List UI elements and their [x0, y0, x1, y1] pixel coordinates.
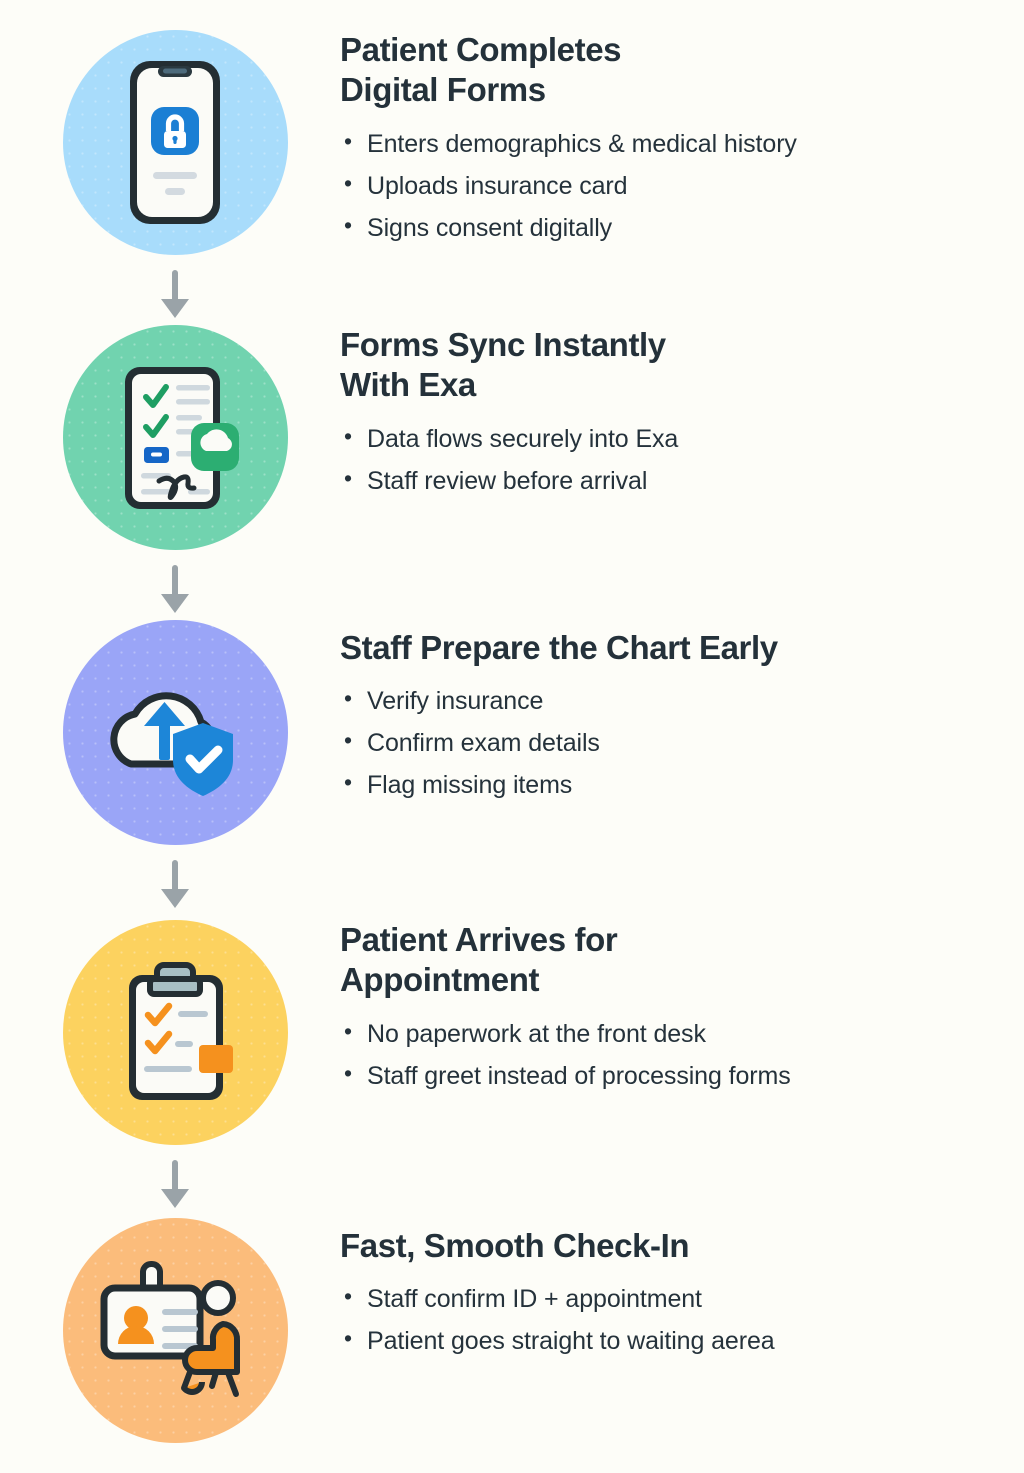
step-5-text-column: Fast, Smooth Check-In Staff confirm ID +…: [340, 1218, 1024, 1362]
step-4-title: Patient Arrives for Appointment: [340, 920, 994, 1001]
connector-4-to-5: [0, 1158, 340, 1210]
step-3-icon-column: [0, 620, 340, 845]
step-3-icon-badge: [63, 620, 288, 845]
list-item: No paperwork at the front desk: [340, 1013, 994, 1055]
step-2-icon-column: [0, 325, 340, 550]
connector-2-to-3: [0, 563, 340, 615]
process-step-5: Fast, Smooth Check-In Staff confirm ID +…: [0, 1218, 1024, 1443]
step-3-text-column: Staff Prepare the Chart Early Verify ins…: [340, 620, 1024, 806]
cloud-upload-shield-check-icon: [95, 658, 255, 808]
signed-form-cloud-sync-icon: [93, 355, 258, 520]
list-item: Staff greet instead of processing forms: [340, 1055, 994, 1097]
list-item: Flag missing items: [340, 764, 994, 806]
list-item: Patient goes straight to waiting aerea: [340, 1320, 994, 1362]
list-item: Confirm exam details: [340, 722, 994, 764]
list-item: Staff review before arrival: [340, 460, 994, 502]
list-item: Uploads insurance card: [340, 165, 994, 207]
step-4-bullet-list: No paperwork at the front desk Staff gre…: [340, 1013, 994, 1097]
step-4-icon-column: [0, 920, 340, 1145]
step-5-icon-column: [0, 1218, 340, 1443]
connector-1-to-2: [0, 268, 340, 320]
step-4-icon-badge: [63, 920, 288, 1145]
arrow-down-icon: [158, 563, 192, 615]
arrow-down-icon: [158, 858, 192, 910]
step-1-icon-badge: [63, 30, 288, 255]
process-flow-infographic: Patient Completes Digital Forms Enters d…: [0, 0, 1024, 1473]
step-2-text-column: Forms Sync Instantly With Exa Data flows…: [340, 325, 1024, 502]
step-1-title: Patient Completes Digital Forms: [340, 30, 994, 111]
step-2-bullet-list: Data flows securely into Exa Staff revie…: [340, 418, 994, 502]
process-step-2: Forms Sync Instantly With Exa Data flows…: [0, 325, 1024, 550]
step-4-text-column: Patient Arrives for Appointment No paper…: [340, 920, 1024, 1097]
step-3-bullet-list: Verify insurance Confirm exam details Fl…: [340, 680, 994, 806]
process-step-1: Patient Completes Digital Forms Enters d…: [0, 30, 1024, 255]
step-3-title: Staff Prepare the Chart Early: [340, 628, 994, 668]
list-item: Verify insurance: [340, 680, 994, 722]
process-step-3: Staff Prepare the Chart Early Verify ins…: [0, 620, 1024, 845]
step-2-icon-badge: [63, 325, 288, 550]
id-badge-seated-patient-icon: [90, 1256, 260, 1406]
step-5-title: Fast, Smooth Check-In: [340, 1226, 994, 1266]
step-5-bullet-list: Staff confirm ID + appointment Patient g…: [340, 1278, 994, 1362]
arrow-down-icon: [158, 1158, 192, 1210]
step-1-bullet-list: Enters demographics & medical history Up…: [340, 123, 994, 249]
step-5-icon-badge: [63, 1218, 288, 1443]
list-item: Staff confirm ID + appointment: [340, 1278, 994, 1320]
step-1-text-column: Patient Completes Digital Forms Enters d…: [340, 30, 1024, 249]
arrow-down-icon: [158, 268, 192, 320]
smartphone-secure-form-icon: [100, 55, 250, 230]
step-1-icon-column: [0, 30, 340, 255]
list-item: Signs consent digitally: [340, 207, 994, 249]
step-2-title: Forms Sync Instantly With Exa: [340, 325, 994, 406]
list-item: Enters demographics & medical history: [340, 123, 994, 165]
process-step-4: Patient Arrives for Appointment No paper…: [0, 920, 1024, 1145]
connector-3-to-4: [0, 858, 340, 910]
list-item: Data flows securely into Exa: [340, 418, 994, 460]
clipboard-checklist-icon: [95, 953, 255, 1113]
